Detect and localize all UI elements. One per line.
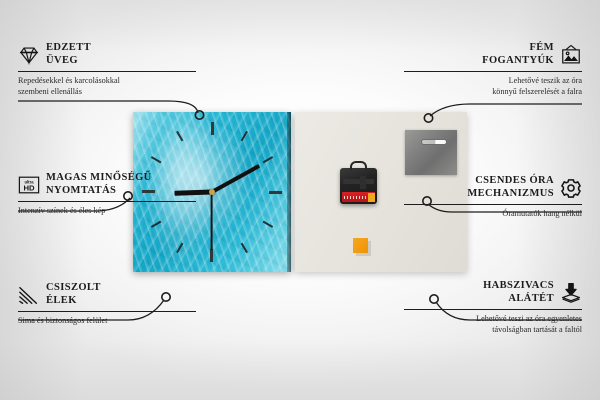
clock-tick-mark	[151, 156, 162, 163]
feature-polished-edges: CSISZOLT ÉLEK Sima és biztonságos felüle…	[18, 282, 196, 326]
feature-title-line: ÉLEK	[46, 295, 101, 308]
clock-hand-sec	[211, 192, 213, 250]
feature-title-line: MECHANIZMUS	[467, 188, 554, 201]
feature-description: Sima és biztonságos felület	[18, 315, 196, 326]
feature-divider	[404, 204, 582, 205]
feature-title-line: HABSZIVACS	[483, 280, 554, 293]
clock-tick-mark	[210, 249, 213, 262]
feature-title: EDZETT ÜVEG	[46, 42, 91, 68]
feature-high-quality-print: ultra HD MAGAS MINŐSÉGŰ NYOMTATÁS Intenz…	[18, 172, 196, 216]
feature-desc-line: könnyű felszerelését a falra	[404, 86, 582, 97]
clock-mechanism-part	[340, 168, 377, 204]
feature-foam-backing: HABSZIVACS ALÁTÉT Lehetővé teszi az óra …	[404, 280, 582, 336]
hanger-slot	[421, 139, 447, 145]
feature-header: HABSZIVACS ALÁTÉT	[404, 280, 582, 306]
hatch-lines-icon	[18, 284, 40, 306]
feature-description: Lehetővé teszik az óra könnyű felszerelé…	[404, 75, 582, 97]
metal-hanger-part	[405, 130, 457, 175]
feature-title-line: EDZETT	[46, 42, 91, 55]
clock-tick-mark	[176, 131, 183, 142]
ultra-hd-icon: ultra HD	[18, 174, 40, 196]
hanging-frame-icon	[560, 44, 582, 66]
feature-title-line: ALÁTÉT	[483, 293, 554, 306]
feature-divider	[18, 311, 196, 312]
feature-divider	[404, 71, 582, 72]
feature-title-line: MAGAS MINŐSÉGŰ	[46, 172, 152, 185]
clock-tick-mark	[263, 221, 274, 228]
feature-title: CSENDES ÓRA MECHANIZMUS	[467, 175, 554, 201]
feature-title: FÉM FOGANTYÚK	[482, 42, 554, 68]
feature-divider	[18, 201, 196, 202]
feature-desc-line: távolságban tartását a faltól	[404, 324, 582, 335]
feature-desc-line: Intenzív színek és éles kép	[18, 205, 196, 216]
mechanism-band-vertical	[360, 176, 366, 189]
feature-description: Repedésekkel és karcolásokkal szembeni e…	[18, 75, 196, 97]
feature-description: Óramutatók hang nélkül	[404, 208, 582, 219]
feature-title: CSISZOLT ÉLEK	[46, 282, 101, 308]
diamond-icon	[18, 44, 40, 66]
feature-description: Lehetővé teszi az óra egyenletes távolsá…	[404, 313, 582, 335]
feature-header: CSENDES ÓRA MECHANIZMUS	[404, 175, 582, 201]
clock-tick-mark	[263, 156, 274, 163]
feature-title: MAGAS MINŐSÉGŰ NYOMTATÁS	[46, 172, 152, 198]
feature-header: ultra HD MAGAS MINŐSÉGŰ NYOMTATÁS	[18, 172, 196, 198]
clock-tick	[211, 122, 213, 192]
feature-desc-line: szembeni ellenállás	[18, 86, 196, 97]
clock-center-pin	[209, 189, 215, 195]
foam-pad-part	[353, 238, 368, 253]
feature-desc-line: Repedésekkel és karcolásokkal	[18, 75, 196, 86]
feature-desc-line: Lehetővé teszik az óra	[404, 75, 582, 86]
feature-title-line: CSENDES ÓRA	[467, 175, 554, 188]
feature-header: EDZETT ÜVEG	[18, 42, 196, 68]
feature-title-line: FOGANTYÚK	[482, 55, 554, 68]
mechanism-band	[343, 179, 374, 184]
feature-divider	[404, 309, 582, 310]
feature-desc-line: Lehetővé teszi az óra egyenletes	[404, 313, 582, 324]
foam-pad-arrow-icon	[560, 282, 582, 304]
clock-tick	[212, 191, 282, 193]
feature-desc-line: Sima és biztonságos felület	[18, 315, 196, 326]
feature-desc-line: Óramutatók hang nélkül	[404, 208, 582, 219]
feature-title-line: NYOMTATÁS	[46, 185, 152, 198]
feature-title: HABSZIVACS ALÁTÉT	[483, 280, 554, 306]
feature-divider	[18, 71, 196, 72]
clock-tick-mark	[151, 221, 162, 228]
svg-text:HD: HD	[23, 183, 35, 192]
feature-header: FÉM FOGANTYÚK	[404, 42, 582, 68]
clock-tick-mark	[176, 243, 183, 254]
feature-metal-handles: FÉM FOGANTYÚK Lehetővé teszik az óra kön…	[404, 42, 582, 98]
mechanism-loop	[350, 161, 367, 170]
feature-title-line: CSISZOLT	[46, 282, 101, 295]
clock-tick-mark	[211, 122, 214, 135]
feature-title-line: ÜVEG	[46, 55, 91, 68]
feature-silent-mechanism: CSENDES ÓRA MECHANIZMUS Óramutatók hang …	[404, 175, 582, 219]
clock-tick-mark	[241, 243, 248, 254]
feature-title-line: FÉM	[482, 42, 554, 55]
gear-icon	[560, 177, 582, 199]
mechanism-battery-marker	[368, 193, 375, 202]
feature-description: Intenzív színek és éles kép	[18, 205, 196, 216]
clock-tick-mark	[241, 131, 248, 142]
clock-tick-mark	[269, 191, 282, 194]
feature-tempered-glass: EDZETT ÜVEG Repedésekkel és karcolásokka…	[18, 42, 196, 98]
feature-header: CSISZOLT ÉLEK	[18, 282, 196, 308]
